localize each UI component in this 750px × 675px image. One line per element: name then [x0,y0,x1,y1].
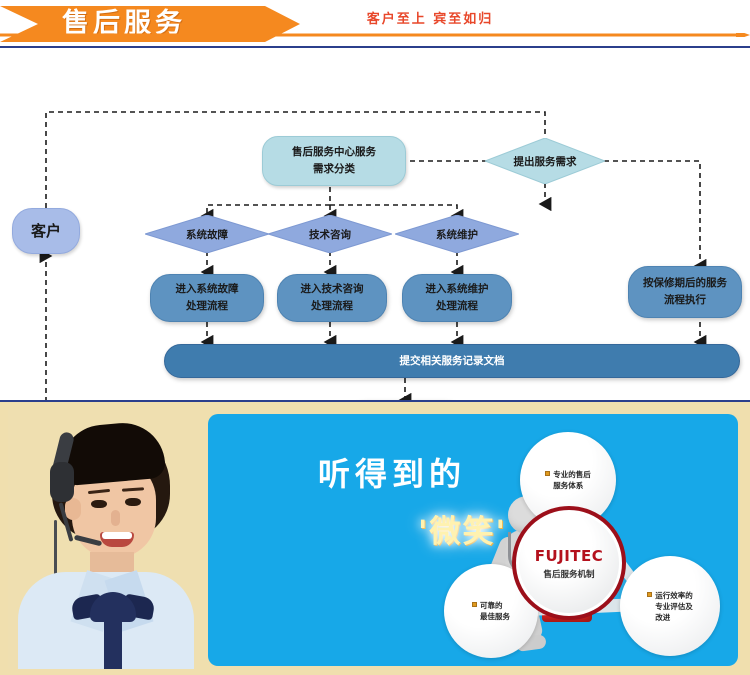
node-service-center[interactable]: 售后服务中心服务 需求分类 [262,136,406,186]
bubble-efficiency-evaluation[interactable]: 运行效率的 专业评估及 改进 [620,556,720,656]
bubble-top-line2: 服务体系 [553,481,583,490]
bubble-top-text: 专业的售后 服务体系 [545,469,591,491]
bubble-left-text: 可靠的 最佳服务 [472,600,510,622]
header-tagline: 客户至上 宾至如归 [0,8,750,27]
node-post-warranty-line2: 流程执行 [664,292,706,309]
bubble-right-line2: 专业评估及 [655,602,693,611]
node-decision-system-maintain-label: 系统维护 [436,227,478,242]
agent-nose [111,510,120,526]
bubble-left-line2: 最佳服务 [480,612,510,621]
page-header: 售后服务 客户至上 宾至如归 [0,0,750,48]
bullet-square-icon [647,592,652,597]
bubble-right-line1: 运行效率的 [655,591,693,600]
node-submit-service-records-label: 提交相关服务记录文档 [400,353,505,370]
bubble-right-line3: 改进 [655,613,670,622]
service-banner: 听得到的 '微笑' FIRST AID 专业的售后 服 [0,400,750,675]
bubble-top-line1: 专业的售后 [553,470,591,479]
node-process-tech-consult-line1: 进入技术咨询 [301,281,364,298]
node-customer[interactable]: 客户 [12,208,80,254]
node-decision-system-fault-label: 系统故障 [186,227,228,242]
node-decision-system-maintain[interactable]: 系统维护 [395,215,519,253]
node-process-system-maintain[interactable]: 进入系统维护 处理流程 [402,274,512,322]
node-decision-system-fault[interactable]: 系统故障 [145,215,269,253]
agent-eye-left [91,500,107,508]
brand-subtitle: 售后服务机制 [543,568,594,580]
brand-center-circle[interactable]: FUJITEC 售后服务机制 [512,506,626,620]
agent-teeth [102,532,132,539]
node-customer-label: 客户 [31,223,61,240]
node-post-warranty-process[interactable]: 按保修期后的服务 流程执行 [628,266,742,318]
banner-blue-card: 听得到的 '微笑' FIRST AID 专业的售后 服 [208,414,738,666]
node-process-system-fault-line2: 处理流程 [186,298,228,315]
bullet-square-icon [472,602,477,607]
node-process-tech-consult-line2: 处理流程 [311,298,353,315]
node-decision-tech-consult-label: 技术咨询 [309,227,351,242]
node-process-system-maintain-line2: 处理流程 [436,298,478,315]
bullet-square-icon [545,471,550,476]
node-submit-request-label: 提出服务需求 [514,154,577,169]
node-process-system-maintain-line1: 进入系统维护 [426,281,489,298]
bubble-right-text: 运行效率的 专业评估及 改进 [647,590,693,623]
node-submit-request[interactable]: 提出服务需求 [485,138,605,184]
header-arrow-icon [0,33,750,37]
call-center-agent-photo [8,410,200,669]
node-process-tech-consult[interactable]: 进入技术咨询 处理流程 [277,274,387,322]
node-service-center-line2: 需求分类 [313,161,355,178]
node-decision-tech-consult[interactable]: 技术咨询 [268,215,392,253]
headset-earpiece-icon [50,462,74,502]
node-post-warranty-line1: 按保修期后的服务 [643,275,727,292]
agent-necktie [104,614,122,669]
agent-eye-right [125,498,141,506]
node-process-system-fault[interactable]: 进入系统故障 处理流程 [150,274,264,322]
node-submit-service-records[interactable]: 提交相关服务记录文档 [164,344,740,378]
node-process-system-fault-line1: 进入系统故障 [176,281,239,298]
brand-name: FUJITEC [535,547,604,565]
bubble-left-line1: 可靠的 [480,601,503,610]
service-mechanism-diagram: 专业的售后 服务体系 可靠的 最佳服务 运行效率的 专业评估及 改进 FUJIT… [444,432,720,658]
service-flowchart: 客户 售后服务中心服务 需求分类 提出服务需求 系统故障 技术咨询 系统维护 进… [0,48,750,400]
node-service-center-line1: 售后服务中心服务 [292,144,376,161]
